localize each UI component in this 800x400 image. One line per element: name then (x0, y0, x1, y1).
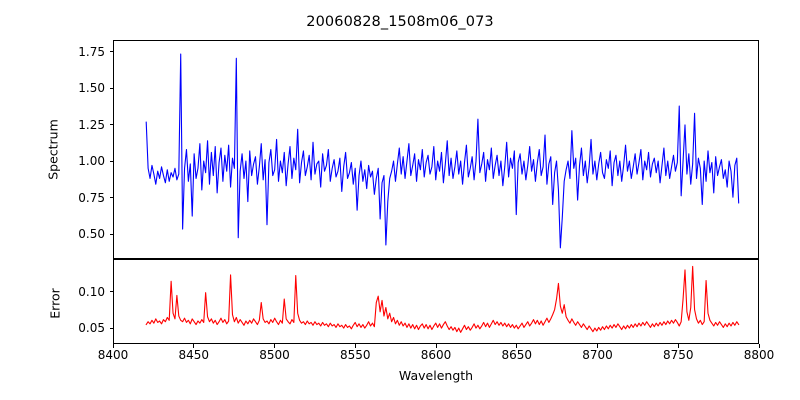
error-panel (113, 259, 759, 344)
x-tick-label: 8750 (663, 348, 694, 362)
x-axis-label: Wavelength (113, 368, 759, 383)
y-tick-label-spectrum: 1.25 (63, 118, 105, 132)
y-tick-mark-spectrum (110, 51, 114, 52)
x-tick-mark (274, 344, 275, 348)
x-tick-mark (597, 344, 598, 348)
y-tick-mark-error (110, 328, 114, 329)
x-tick-mark (759, 344, 760, 348)
spectrum-trace (114, 41, 758, 258)
y-tick-mark-error (110, 291, 114, 292)
x-tick-mark (436, 344, 437, 348)
x-tick-label: 8550 (340, 348, 371, 362)
x-tick-label: 8450 (178, 348, 209, 362)
x-tick-label: 8400 (98, 348, 129, 362)
y-tick-label-spectrum: 1.75 (63, 45, 105, 59)
x-tick-mark (516, 344, 517, 348)
y-tick-label-spectrum: 1.50 (63, 81, 105, 95)
y-tick-label-spectrum: 1.00 (63, 154, 105, 168)
figure-canvas: 20060828_1508m06_073 Spectrum Error Wave… (0, 0, 800, 400)
x-tick-label: 8800 (744, 348, 775, 362)
y-tick-mark-spectrum (110, 124, 114, 125)
y-tick-label-spectrum: 0.75 (63, 191, 105, 205)
y-axis-label-spectrum: Spectrum (46, 90, 61, 210)
x-tick-label: 8500 (259, 348, 290, 362)
y-tick-label-error: 0.10 (63, 285, 105, 299)
x-tick-mark (355, 344, 356, 348)
y-axis-label-error: Error (48, 244, 63, 364)
x-tick-mark (113, 344, 114, 348)
x-tick-label: 8650 (501, 348, 532, 362)
y-tick-label-spectrum: 0.50 (63, 227, 105, 241)
spectrum-panel (113, 40, 759, 259)
x-tick-mark (193, 344, 194, 348)
y-tick-mark-spectrum (110, 161, 114, 162)
x-tick-label: 8600 (421, 348, 452, 362)
error-trace (114, 260, 758, 343)
page-title: 20060828_1508m06_073 (0, 14, 800, 30)
x-tick-label: 8700 (582, 348, 613, 362)
y-tick-mark-spectrum (110, 197, 114, 198)
y-tick-label-error: 0.05 (63, 321, 105, 335)
y-tick-mark-spectrum (110, 234, 114, 235)
x-tick-mark (678, 344, 679, 348)
y-tick-mark-spectrum (110, 88, 114, 89)
